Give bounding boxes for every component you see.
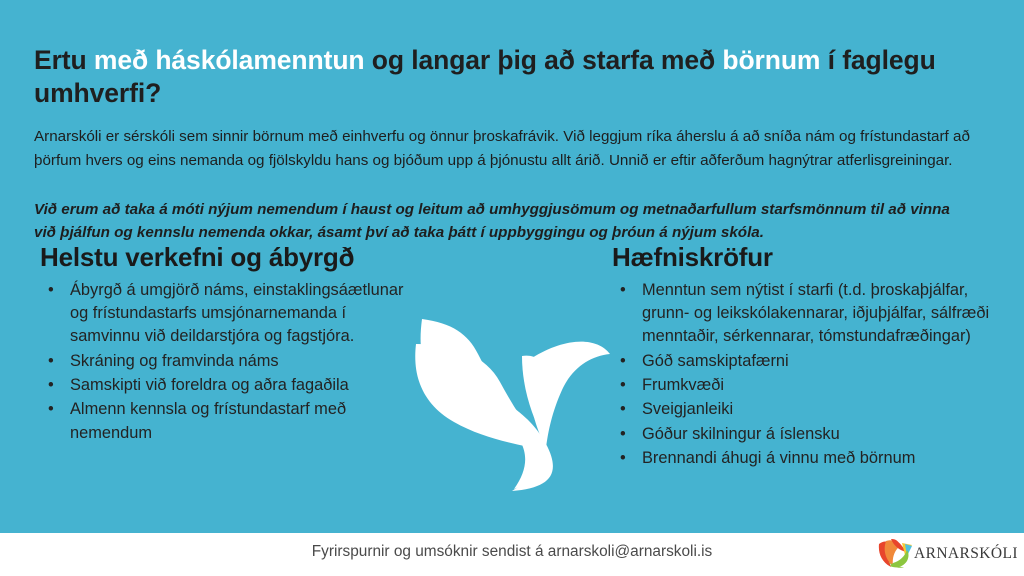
list-item: •Brennandi áhugi á vinnu með börnum bbox=[612, 447, 1012, 470]
list-item: •Menntun sem nýtist í starfi (t.d. þrosk… bbox=[612, 279, 1012, 349]
footer-logo-text: ARNARSKÓLI bbox=[914, 545, 1018, 563]
list-item: •Góð samskiptafærni bbox=[612, 350, 1012, 373]
list-item-label: Góður skilningur á íslensku bbox=[642, 425, 840, 443]
list-item-label: Ábyrgð á umgjörð náms, einstaklingsáætlu… bbox=[70, 281, 403, 346]
page-title: Ertu með háskólamenntun og langar þig að… bbox=[34, 44, 986, 111]
list-item-label: Skráning og framvinda náms bbox=[70, 352, 279, 370]
list-item-label: Góð samskiptafærni bbox=[642, 352, 789, 370]
bullet-dot-icon: • bbox=[48, 374, 54, 397]
bullet-dot-icon: • bbox=[620, 279, 626, 302]
title-segment-2: með háskólamenntun bbox=[94, 45, 372, 75]
slide-canvas: Ertu með háskólamenntun og langar þig að… bbox=[0, 0, 1024, 576]
bullet-dot-icon: • bbox=[48, 398, 54, 421]
footer-logo: ARNARSKÓLI bbox=[876, 534, 1022, 574]
left-column: Helstu verkefni og ábyrgð •Ábyrgð á umgj… bbox=[40, 243, 420, 446]
list-item: •Samskipti við foreldra og aðra fagaðila bbox=[40, 374, 420, 397]
list-item-label: Almenn kennsla og frístundastarf með nem… bbox=[70, 400, 346, 441]
title-segment-3: og langar þig að starfa með bbox=[372, 45, 723, 75]
bullet-dot-icon: • bbox=[620, 423, 626, 446]
list-item-label: Frumkvæði bbox=[642, 376, 724, 394]
bullet-dot-icon: • bbox=[620, 350, 626, 373]
right-column-heading: Hæfniskröfur bbox=[612, 243, 1012, 273]
title-segment-1: Ertu bbox=[34, 45, 94, 75]
invitation-paragraph: Við erum að taka á móti nýjum nemendum í… bbox=[34, 198, 964, 244]
right-column: Hæfniskröfur •Menntun sem nýtist í starf… bbox=[612, 243, 1012, 471]
title-segment-4: börnum bbox=[722, 45, 827, 75]
bullet-dot-icon: • bbox=[48, 350, 54, 373]
bullet-dot-icon: • bbox=[620, 398, 626, 421]
list-item-label: Samskipti við foreldra og aðra fagaðila bbox=[70, 376, 349, 394]
bullet-dot-icon: • bbox=[620, 374, 626, 397]
bullet-dot-icon: • bbox=[620, 447, 626, 470]
bullet-dot-icon: • bbox=[48, 279, 54, 302]
right-column-bullet-list: •Menntun sem nýtist í starfi (t.d. þrosk… bbox=[612, 279, 1012, 470]
list-item: •Sveigjanleiki bbox=[612, 398, 1012, 421]
list-item: •Góður skilningur á íslensku bbox=[612, 423, 1012, 446]
arnarskoli-bird-wing-graphic-icon bbox=[394, 292, 624, 514]
list-item: •Ábyrgð á umgjörð náms, einstaklingsáætl… bbox=[40, 279, 420, 349]
list-item: •Frumkvæði bbox=[612, 374, 1012, 397]
list-item: •Skráning og framvinda náms bbox=[40, 350, 420, 373]
list-item: •Almenn kennsla og frístundastarf með ne… bbox=[40, 398, 420, 445]
left-column-bullet-list: •Ábyrgð á umgjörð náms, einstaklingsáætl… bbox=[40, 279, 420, 445]
list-item-label: Brennandi áhugi á vinnu með börnum bbox=[642, 449, 915, 467]
list-item-label: Menntun sem nýtist í starfi (t.d. þroska… bbox=[642, 281, 989, 346]
list-item-label: Sveigjanleiki bbox=[642, 400, 733, 418]
footer-bar: Fyrirspurnir og umsóknir sendist á arnar… bbox=[0, 533, 1024, 576]
footer-contact-text: Fyrirspurnir og umsóknir sendist á arnar… bbox=[0, 543, 1024, 561]
left-column-heading: Helstu verkefni og ábyrgð bbox=[40, 243, 420, 273]
intro-paragraph: Arnarskóli er sérskóli sem sinnir börnum… bbox=[34, 125, 990, 173]
